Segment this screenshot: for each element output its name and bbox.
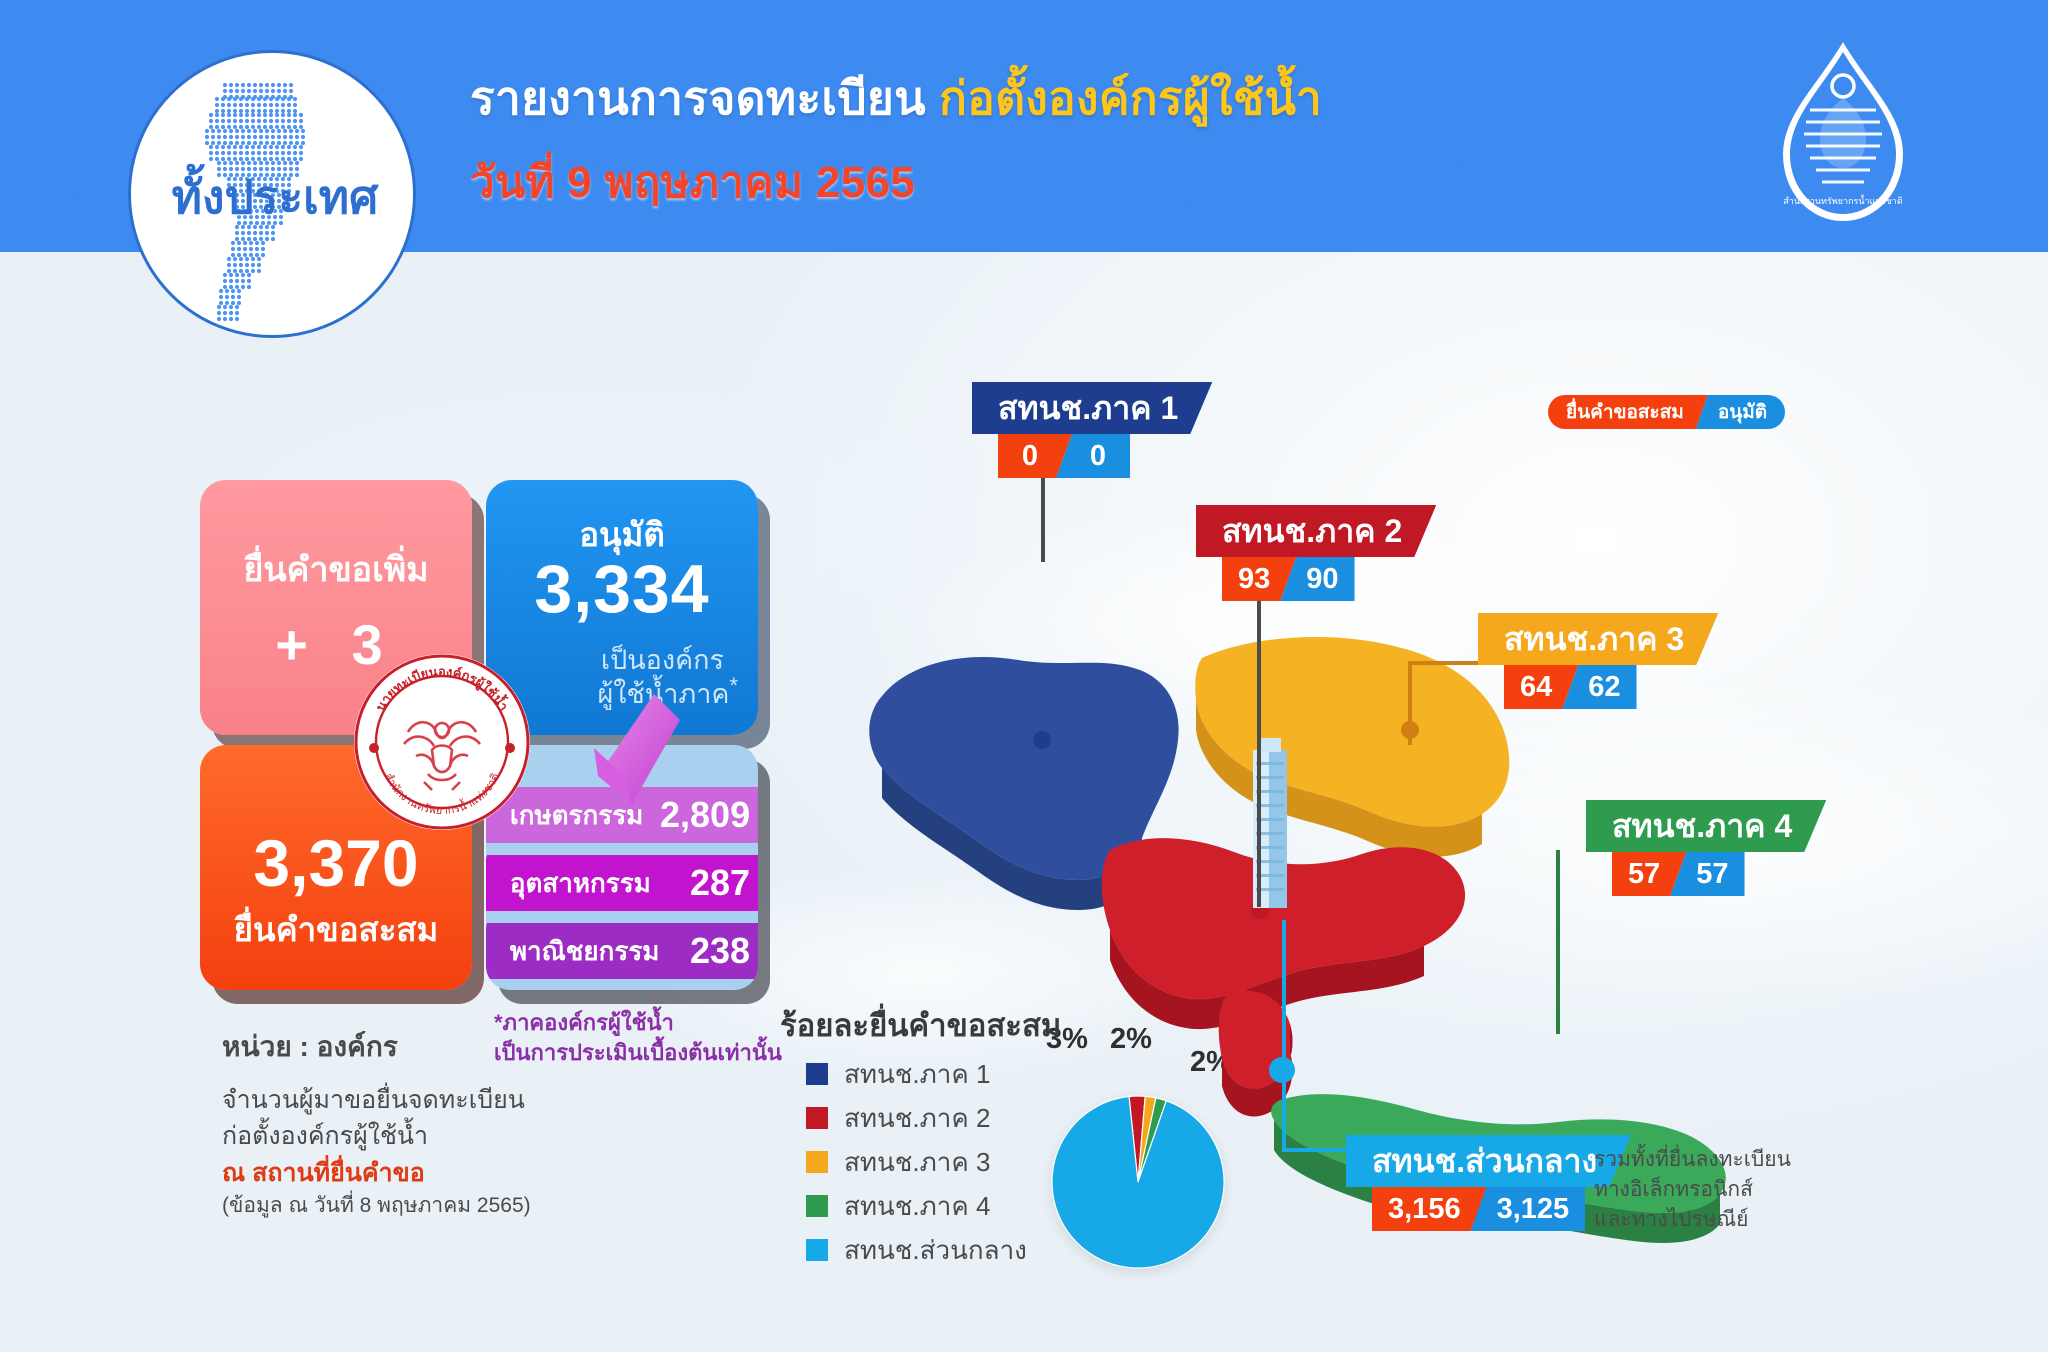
region-1-numbers: 0 0 [998,434,1130,478]
legend-key-submitted: ยื่นคำขอสะสม [1548,395,1708,429]
infographic-canvas: รายงานการจดทะเบียน ก่อตั้งองค์กรผู้ใช้น้… [0,0,2048,1352]
legend-item[interactable]: สทนช.ภาค 1 [806,1052,1027,1096]
down-arrow-icon [588,690,684,808]
region-tag-4[interactable]: สทนช.ภาค 4 57 57 [1586,800,1826,896]
pie-chart-legend: สทนช.ภาค 1 สทนช.ภาค 2 สทนช.ภาค 3 สทนช.ภา… [806,1052,1027,1272]
report-date: วันที่ 9 พฤษภาคม 2565 [470,147,1322,217]
legend-swatch-region-3 [806,1151,828,1173]
desc-line1: จำนวนผู้มาขอยื่นจดทะเบียน [222,1082,552,1118]
central-note: รวมทั้งที่ยื่นลงทะเบียน ทางอิเล็กทรอนิกส… [1594,1145,1894,1234]
sector-footnote: *ภาคองค์กรผู้ใช้น้ำ เป็นการประเมินเบื้อง… [494,1008,794,1067]
header-title-block: รายงานการจดทะเบียน ก่อตั้งองค์กรผู้ใช้น้… [470,62,1322,217]
card-cumulative-value: 3,370 [200,825,472,901]
region-central-name: สทนช.ส่วนกลาง [1346,1135,1631,1187]
country-badge: ทั้งประเทศ [128,50,416,338]
legend-label-region-2: สทนช.ภาค 2 [844,1098,990,1139]
legend-key: ยื่นคำขอสะสม อนุมัติ [1548,395,1785,429]
card-cumulative-label: ยื่นคำขอสะสม [200,903,472,956]
legend-item[interactable]: สทนช.ส่วนกลาง [806,1228,1027,1272]
legend-label-region-1: สทนช.ภาค 1 [844,1054,990,1095]
region-4-name: สทนช.ภาค 4 [1586,800,1826,852]
sector-row-industry: อุตสาหกรรม 287 [486,855,758,911]
legend-label-region-4: สทนช.ภาค 4 [844,1186,990,1227]
legend-swatch-region-2 [806,1107,828,1129]
page-title: รายงานการจดทะเบียน ก่อตั้งองค์กรผู้ใช้น้… [470,62,1322,135]
country-badge-label: ทั้งประเทศ [131,161,416,234]
pie-chart-title: ร้อยละยื่นคำขอสะสม [780,1000,1061,1050]
desc-line2: ก่อตั้งองค์กรผู้ใช้น้ำ [222,1118,552,1154]
region-4-numbers: 57 57 [1612,852,1745,896]
title-plain: รายงานการจดทะเบียน [470,72,926,124]
legend-swatch-region-1 [806,1063,828,1085]
legend-key-approved: อนุมัติ [1696,395,1785,429]
sector-1-name: อุตสาหกรรม [510,863,651,904]
region-3-name: สทนช.ภาค 3 [1478,613,1718,665]
pie-chart [1038,1078,1238,1278]
official-seal-icon: นายทะเบียนองค์กรผู้ใช้น้ำ สำนักงานทรัพยา… [352,652,532,832]
region-2-numbers: 93 90 [1222,557,1355,601]
legend-label-region-3: สทนช.ภาค 3 [844,1142,990,1183]
region-tag-3[interactable]: สทนช.ภาค 3 64 62 [1478,613,1718,709]
region-central-numbers: 3,156 3,125 [1372,1187,1585,1231]
region-central-approved: 3,125 [1471,1187,1586,1231]
card-approved-value: 3,334 [486,550,758,628]
region-tag-1[interactable]: สทนช.ภาค 1 0 0 [972,382,1212,478]
unit-note: หน่วย : องค์กร [222,1025,398,1069]
legend-label-central: สทนช.ส่วนกลาง [844,1230,1027,1271]
pie-chart-svg [1038,1078,1238,1278]
sector-1-value: 287 [690,862,750,904]
legend-item[interactable]: สทนช.ภาค 3 [806,1140,1027,1184]
connector-region-2 [1257,555,1261,907]
region-1-name: สทนช.ภาค 1 [972,382,1212,434]
onwr-emblem-icon: สำนักงานทรัพยากรน้ำแห่งชาติ [1758,38,1928,228]
sector-footnote-line2: เป็นการประเมินเบื้องต้นเท่านั้น [494,1038,794,1068]
connector-region-4 [1556,850,1560,1034]
region-2-name: สทนช.ภาค 2 [1196,505,1436,557]
legend-swatch-central [806,1239,828,1261]
central-note-line2: ทางอิเล็กทรอนิกส์ [1594,1175,1894,1205]
card-pending-label: ยื่นคำขอเพิ่ม [200,542,472,596]
central-note-line3: และทางไปรษณีย์ [1594,1205,1894,1235]
legend-swatch-region-4 [806,1195,828,1217]
region-tag-central[interactable]: สทนช.ส่วนกลาง 3,156 3,125 [1346,1135,1631,1231]
desc-place: ณ สถานที่ยื่นคำขอ [222,1155,552,1191]
connector-region-3 [1408,663,1412,745]
headquarters-building-icon [1243,736,1299,921]
card-approved-marker: * [729,673,738,698]
sector-row-commerce: พาณิชยกรรม 238 [486,923,758,979]
sector-footnote-line1: *ภาคองค์กรผู้ใช้น้ำ [494,1008,794,1038]
connector-central [1282,920,1286,1152]
svg-text:สำนักงานทรัพยากรน้ำแห่งชาติ: สำนักงานทรัพยากรน้ำแห่งชาติ [1783,194,1903,206]
legend-item[interactable]: สทนช.ภาค 4 [806,1184,1027,1228]
central-note-line1: รวมทั้งที่ยื่นลงทะเบียน [1594,1145,1894,1175]
connector-central-b [1282,1148,1352,1152]
region-3-numbers: 64 62 [1504,665,1637,709]
map-pin-region-1 [1033,731,1051,749]
region-tag-2[interactable]: สทนช.ภาค 2 93 90 [1196,505,1436,601]
sector-2-value: 238 [690,930,750,972]
region-central-submitted: 3,156 [1372,1187,1487,1231]
legend-item[interactable]: สทนช.ภาค 2 [806,1096,1027,1140]
sector-2-name: พาณิชยกรรม [510,931,660,972]
description-note: จำนวนผู้มาขอยื่นจดทะเบียน ก่อตั้งองค์กรผ… [222,1082,552,1221]
desc-asof: (ข้อมูล ณ วันที่ 8 พฤษภาคม 2565) [222,1191,552,1221]
title-highlight: ก่อตั้งองค์กรผู้ใช้น้ำ [939,72,1322,124]
